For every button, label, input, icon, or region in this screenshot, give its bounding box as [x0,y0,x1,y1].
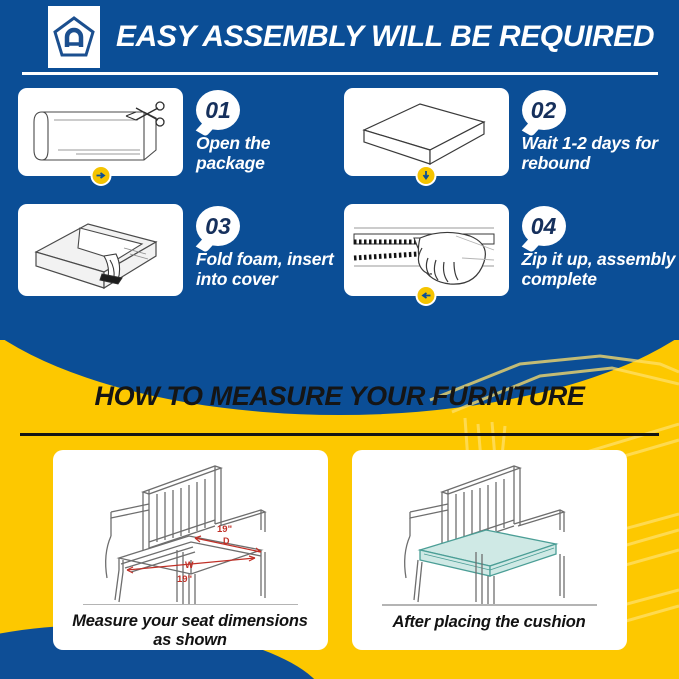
chair-with-dimension-markings-illustration: 19" D W 19" [65,454,315,604]
step-04-arrow-left-icon [416,285,437,306]
step-02-arrow-down-icon [416,165,437,186]
measure-card-caption: Measure your seat dimensions as shown [53,612,328,650]
step-03: 03 Fold foam, insert into cover [0,204,340,296]
page-title: EASY ASSEMBLY WILL BE REQUIRED [116,20,654,54]
measure-card-divider [83,604,298,605]
step-03-text: 03 Fold foam, insert into cover [183,204,340,289]
measure-card-caption: After placing the cushion [382,613,595,632]
measure-card-divider [382,604,597,606]
step-04-number-badge: 04 [522,206,566,246]
width-letter-label: W [185,560,194,570]
measure-cards: 19" D W 19" Measure your seat dimensions… [0,450,679,650]
hand-zipping-zipper-illustration [344,204,509,296]
step-01-arrow-right-icon [90,165,111,186]
step-01: 01 Open the package [0,88,340,176]
step-04: 04 Zip it up, assembly complete [340,204,679,296]
rolled-package-with-scissors-illustration [18,88,183,176]
step-02-label: Wait 1-2 days for rebound [522,134,679,173]
steps-row-1: 01 Open the package [0,88,679,176]
infographic-root: EASY ASSEMBLY WILL BE REQUIRED [0,0,679,679]
header-divider [22,72,658,75]
step-04-text: 04 Zip it up, assembly complete [509,204,679,289]
step-04-label: Zip it up, assembly complete [522,250,679,289]
measure-card-cushion: After placing the cushion [352,450,627,650]
step-01-text: 01 Open the package [183,88,340,173]
step-01-number-badge: 01 [196,90,240,130]
step-03-number-badge: 03 [196,206,240,246]
measure-section-title: HOW TO MEASURE YOUR FURNITURE [0,381,679,412]
step-04-card [344,204,509,296]
width-value-label: 19" [177,574,192,585]
step-02-text: 02 Wait 1-2 days for rebound [509,88,679,173]
step-02-number-badge: 02 [522,90,566,130]
step-02: 02 Wait 1-2 days for rebound [340,88,679,176]
step-01-label: Open the package [196,134,340,173]
assembly-steps: 01 Open the package [0,88,679,296]
flat-foam-cushion-illustration [344,88,509,176]
depth-letter-label: D [223,536,230,546]
step-01-card [18,88,183,176]
foam-inserted-into-cover-illustration [18,204,183,296]
step-03-label: Fold foam, insert into cover [196,250,340,289]
chair-with-teal-cushion-illustration [364,454,614,604]
step-03-card [18,204,183,296]
step-02-card [344,88,509,176]
steps-row-2: 03 Fold foam, insert into cover [0,204,679,296]
measure-section-divider [20,433,659,436]
house-pentagon-logo-icon [48,6,100,68]
measure-card-dimensions: 19" D W 19" Measure your seat dimensions… [53,450,328,650]
depth-value-label: 19" [217,524,232,535]
